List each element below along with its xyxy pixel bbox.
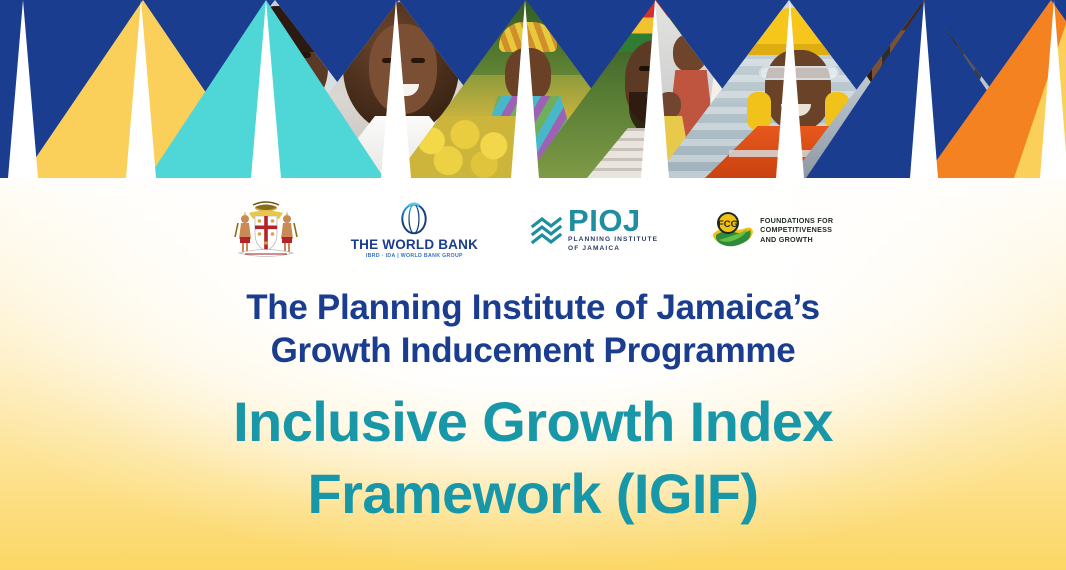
pioj-wordmark: PIOJ: [568, 207, 658, 234]
pioj-tagline-line1: PLANNING INSTITUTE: [568, 236, 658, 243]
world-bank-logo: THE WORLD BANK IBRD · IDA | WORLD BANK G…: [351, 200, 478, 259]
subtitle-line-1: The Planning Institute of Jamaica’s: [0, 286, 1066, 329]
pioj-logo: PIOJ PLANNING INSTITUTE OF JAMAICA: [530, 207, 658, 253]
diversity-photo-triangle-banner: [0, 0, 1066, 178]
fcg-logo: FCG FOUNDATIONS FOR COMPETITIVENESS AND …: [710, 210, 833, 250]
title-content-area: THE WORLD BANK IBRD · IDA | WORLD BANK G…: [0, 178, 1066, 570]
svg-text:FCG: FCG: [718, 219, 738, 230]
fcg-tagline: FOUNDATIONS FOR COMPETITIVENESS AND GROW…: [760, 216, 833, 244]
igif-title-slide: THE WORLD BANK IBRD · IDA | WORLD BANK G…: [0, 0, 1066, 570]
pioj-tagline-line2: OF JAMAICA: [568, 245, 620, 252]
fcg-island-icon: FCG: [710, 210, 754, 250]
world-bank-name: THE WORLD BANK: [351, 238, 478, 252]
pioj-text-block: PIOJ PLANNING INSTITUTE OF JAMAICA: [568, 207, 658, 253]
fcg-tagline-line1: FOUNDATIONS FOR: [760, 216, 833, 225]
title-line-2: Framework (IGIF): [0, 458, 1066, 530]
world-bank-tagline: IBRD · IDA | WORLD BANK GROUP: [366, 254, 463, 259]
pioj-chevron-icon: [530, 213, 564, 247]
subtitle-line-2: Growth Inducement Programme: [0, 329, 1066, 372]
jamaica-coat-of-arms: [233, 199, 299, 261]
fcg-tagline-line3: AND GROWTH: [760, 235, 833, 244]
world-bank-globe-icon: [396, 200, 432, 236]
page-title: Inclusive Growth Index Framework (IGIF): [0, 386, 1066, 529]
title-line-1: Inclusive Growth Index: [0, 386, 1066, 458]
pioj-tagline: PLANNING INSTITUTE OF JAMAICA: [568, 236, 658, 253]
partner-logo-row: THE WORLD BANK IBRD · IDA | WORLD BANK G…: [0, 194, 1066, 266]
jamaica-coat-of-arms-logo: [233, 199, 299, 261]
fcg-tagline-line2: COMPETITIVENESS: [760, 225, 833, 234]
programme-subtitle: The Planning Institute of Jamaica’s Grow…: [0, 286, 1066, 372]
